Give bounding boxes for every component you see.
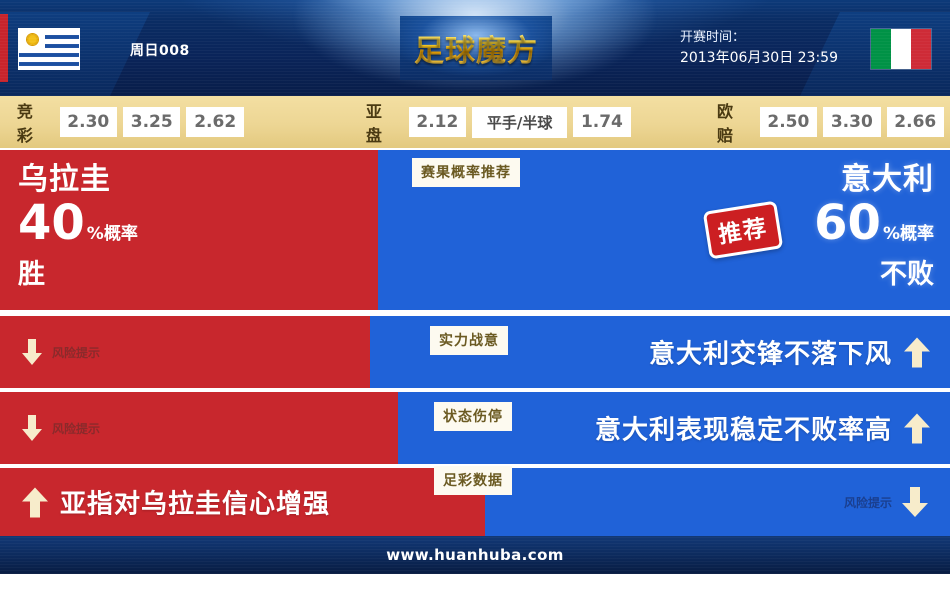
header-bar: 周日008 足球魔方 开赛时间： 2013年06月30日 23:59 [0, 0, 950, 96]
odds-cell[interactable]: 2.12 [409, 107, 466, 137]
kickoff-label: 开赛时间： [680, 28, 838, 48]
home-probability: 40%概率 [18, 198, 138, 259]
insight-message: 亚指对乌拉圭信心增强 [22, 484, 330, 521]
odds-cell[interactable]: 1.74 [573, 107, 630, 137]
arrow-up-icon [904, 413, 930, 443]
odds-label-jingcai: 竞彩 [17, 98, 51, 146]
risk-hint-right: 风险提示 [844, 487, 928, 517]
match-id-label: 周日008 [130, 40, 190, 60]
insight-message: 意大利表现稳定不败率高 [595, 410, 930, 447]
odds-cell[interactable]: 2.66 [887, 107, 944, 137]
home-team-name: 乌拉圭 [18, 162, 138, 198]
bottom-white-margin [0, 574, 950, 594]
section-tag-form: 状态伤停 [434, 402, 512, 431]
away-probability-value: 60 [814, 195, 881, 251]
arrow-down-icon [902, 487, 928, 517]
odds-label-yapan: 亚盘 [366, 98, 400, 146]
site-logo-text: 足球魔方 [414, 26, 538, 70]
home-team-block: 乌拉圭 40%概率 胜 [18, 162, 138, 291]
away-probability-suffix: %概率 [883, 224, 934, 244]
italy-flag-icon [870, 28, 932, 70]
odds-cell-handicap[interactable]: 平手/半球 [472, 107, 567, 138]
odds-cell[interactable]: 2.50 [760, 107, 817, 137]
odds-label-oupei: 欧赔 [717, 98, 751, 146]
odds-group-yapan: 亚盘 2.12 平手/半球 1.74 [366, 98, 637, 146]
odds-group-jingcai: 竞彩 2.30 3.25 2.62 [17, 98, 250, 146]
odds-cell[interactable]: 3.25 [123, 107, 180, 137]
odds-group-oupei: 欧赔 2.50 3.30 2.66 [717, 98, 950, 146]
risk-hint-label: 风险提示 [52, 344, 100, 361]
odds-cell[interactable]: 2.30 [60, 107, 117, 137]
odds-cell[interactable]: 2.62 [186, 107, 243, 137]
risk-hint-label: 风险提示 [844, 494, 892, 511]
header-red-accent [0, 14, 8, 82]
insight-message-text: 亚指对乌拉圭信心增强 [60, 484, 330, 521]
footer-url[interactable]: www.huanhuba.com [386, 546, 564, 564]
away-result-label: 不败 [814, 259, 934, 291]
arrow-down-icon [22, 339, 42, 365]
away-probability: 60%概率 [814, 198, 934, 259]
away-team-name: 意大利 [814, 162, 934, 198]
uruguay-flag-icon [18, 28, 80, 70]
footer-bar: www.huanhuba.com [0, 536, 950, 574]
arrow-up-icon [22, 487, 48, 517]
insight-message: 意大利交锋不落下风 [649, 334, 930, 371]
risk-hint-left: 风险提示 [22, 415, 100, 441]
odds-cell[interactable]: 3.30 [823, 107, 880, 137]
away-team-block: 意大利 60%概率 不败 [814, 162, 934, 291]
home-probability-value: 40 [18, 195, 85, 251]
kickoff-time: 2013年06月30日 23:59 [680, 48, 838, 68]
odds-bar: 竞彩 2.30 3.25 2.62 亚盘 2.12 平手/半球 1.74 欧赔 … [0, 96, 950, 148]
risk-hint-label: 风险提示 [52, 420, 100, 437]
section-tag-strength: 实力战意 [430, 326, 508, 355]
insight-message-text: 意大利表现稳定不败率高 [595, 410, 892, 447]
insight-message-text: 意大利交锋不落下风 [649, 334, 892, 371]
section-tag-betting-data: 足彩数据 [434, 466, 512, 495]
risk-hint-left: 风险提示 [22, 339, 100, 365]
site-logo[interactable]: 足球魔方 [400, 16, 552, 80]
home-probability-suffix: %概率 [87, 224, 138, 244]
arrow-down-icon [22, 415, 42, 441]
kickoff-block: 开赛时间： 2013年06月30日 23:59 [680, 28, 838, 68]
arrow-up-icon [904, 337, 930, 367]
home-result-label: 胜 [18, 259, 138, 291]
section-tag-probability: 赛果概率推荐 [412, 158, 520, 187]
infographic-page: 周日008 足球魔方 开赛时间： 2013年06月30日 23:59 竞彩 2.… [0, 0, 950, 594]
